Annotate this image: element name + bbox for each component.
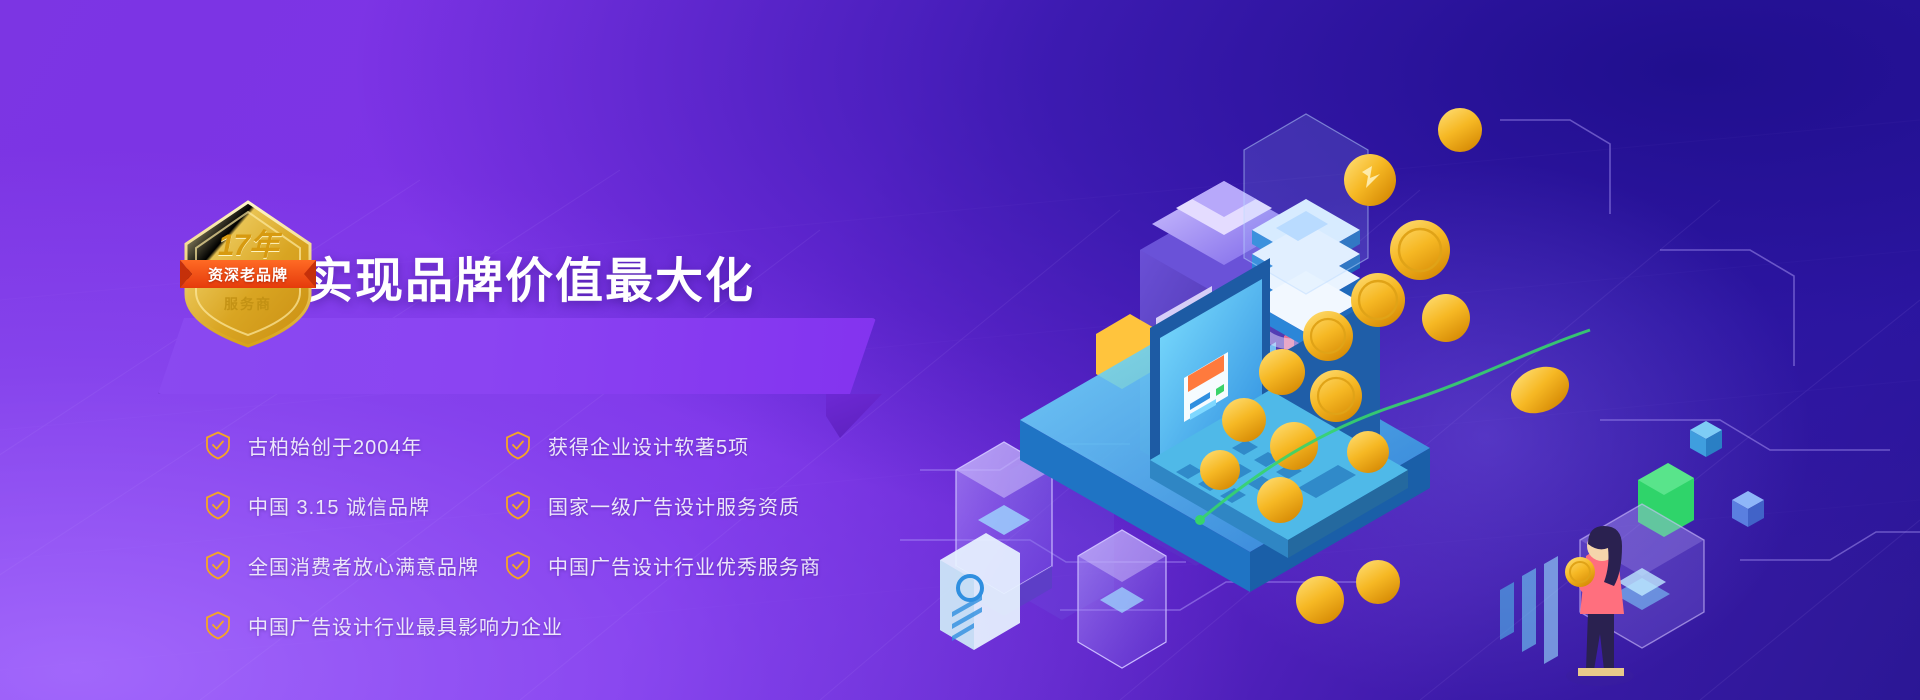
list-item[interactable]: 中国广告设计行业优秀服务商 xyxy=(505,545,845,585)
banner-content: 实现品牌价值最大化 xyxy=(0,0,1000,700)
mobile-device-icon xyxy=(940,533,1020,650)
badge-ribbon-label: 资深老品牌 xyxy=(186,261,310,287)
list-item[interactable]: 古柏始创于2004年 xyxy=(205,425,505,465)
page-title: 实现品牌价值最大化 xyxy=(305,258,755,306)
list-item[interactable]: 中国广告设计行业最具影响力企业 xyxy=(205,605,505,645)
feature-row: 古柏始创于2004年 获得企业设计软著5项 xyxy=(205,425,945,485)
feature-list: 古柏始创于2004年 获得企业设计软著5项 中国 3.15 诚信品 xyxy=(205,425,945,665)
badge-sub-label: 服务商 xyxy=(178,294,318,314)
list-item[interactable]: 中国 3.15 诚信品牌 xyxy=(205,485,505,525)
cube-icon xyxy=(1732,491,1764,527)
list-item-label: 中国广告设计行业优秀服务商 xyxy=(548,551,821,580)
list-item-label: 获得企业设计软著5项 xyxy=(548,431,749,460)
feature-row: 中国广告设计行业最具影响力企业 xyxy=(205,605,945,665)
trend-point xyxy=(1195,515,1205,525)
shield-check-icon xyxy=(505,551,531,580)
list-item-label: 国家一级广告设计服务资质 xyxy=(548,491,800,520)
list-item[interactable]: 国家一级广告设计服务资质 xyxy=(505,485,845,525)
promo-banner: 实现品牌价值最大化 xyxy=(0,0,1920,700)
list-item-label: 中国 3.15 诚信品牌 xyxy=(248,491,430,520)
award-badge: 17年 资深老品牌 服务商 xyxy=(178,198,318,348)
feature-row: 中国 3.15 诚信品牌 国家一级广告设计服务资质 xyxy=(205,485,945,545)
bar-chart-icon xyxy=(1500,556,1558,664)
list-item-label: 中国广告设计行业最具影响力企业 xyxy=(248,611,563,640)
shield-check-icon xyxy=(205,611,231,640)
shield-check-icon xyxy=(505,431,531,460)
list-item[interactable]: 获得企业设计软著5项 xyxy=(505,425,845,465)
shield-check-icon xyxy=(205,491,231,520)
cube-icon xyxy=(1690,421,1722,457)
shield-check-icon xyxy=(205,431,231,460)
shield-check-icon xyxy=(505,491,531,520)
list-item[interactable]: 全国消费者放心满意品牌 xyxy=(205,545,505,585)
badge-years-label: 17年 xyxy=(178,220,318,264)
isometric-fintech-illustration xyxy=(900,0,1920,700)
list-item-label: 全国消费者放心满意品牌 xyxy=(248,551,479,580)
list-item-label: 古柏始创于2004年 xyxy=(248,431,423,460)
hologram-pedestal-icon xyxy=(1078,530,1166,668)
shield-check-icon xyxy=(205,551,231,580)
feature-row: 全国消费者放心满意品牌 中国广告设计行业优秀服务商 xyxy=(205,545,945,605)
